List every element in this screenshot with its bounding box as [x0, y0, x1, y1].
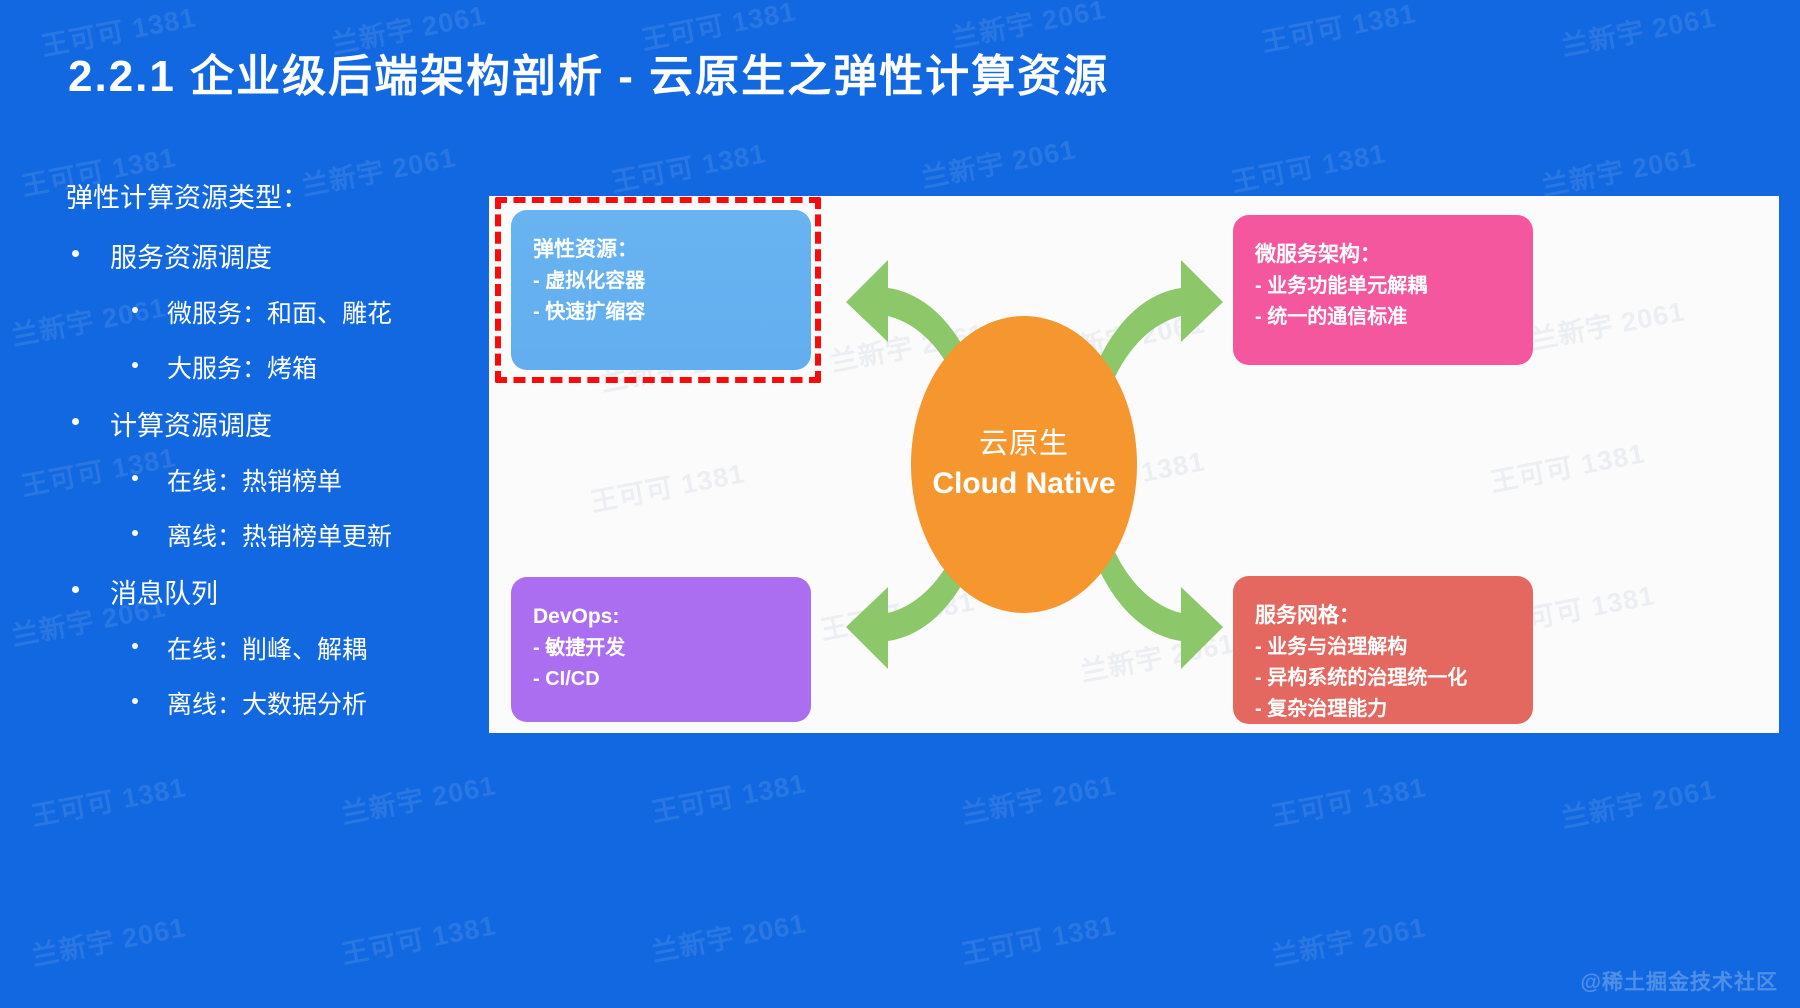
- watermark-text: 兰新宇 2061: [338, 763, 499, 831]
- node-line: - 统一的通信标准: [1255, 302, 1513, 333]
- outline-item-label: 服务资源调度: [110, 236, 272, 275]
- node-line: - CI/CD: [533, 664, 791, 695]
- highlight-box-elastic-resource: [495, 197, 821, 383]
- node-title: DevOps:: [533, 601, 791, 633]
- node-title: 服务网格：: [1255, 600, 1513, 632]
- watermark-text: 王可可 1381: [608, 131, 769, 199]
- node-line: - 业务与治理解构: [1255, 632, 1513, 663]
- bullet-icon: [132, 362, 138, 368]
- outline-heading: 弹性计算资源类型：: [66, 182, 486, 214]
- watermark-text: 兰新宇 2061: [648, 901, 809, 969]
- watermark-text: 王可可 1381: [1487, 431, 1648, 499]
- node-line: - 敏捷开发: [533, 633, 791, 664]
- outline-item-label: 计算资源调度: [110, 404, 272, 443]
- brand-watermark: @稀土掘金技术社区: [1581, 966, 1778, 996]
- outline-item-level1: 消息队列: [66, 572, 486, 611]
- watermark-text: 兰新宇 2061: [1538, 135, 1699, 203]
- outline-item-level2: 在线：削峰、解耦: [66, 630, 486, 666]
- outline-item-label: 在线：热销榜单: [167, 462, 342, 498]
- outline-item-level1: 服务资源调度: [66, 236, 486, 275]
- outline-item-label: 在线：削峰、解耦: [167, 630, 367, 666]
- watermark-text: 王可可 1381: [587, 451, 748, 519]
- cloud-native-diagram: 兰新宇 2061 王可可 1381 兰新宇 2061 兰新宇 2061 兰新宇 …: [489, 196, 1779, 733]
- watermark-text: 王可可 1381: [1258, 0, 1419, 60]
- bullet-icon: [72, 418, 79, 425]
- watermark-text: 王可可 1381: [958, 903, 1119, 971]
- center-label-cn: 云原生: [979, 425, 1069, 464]
- outline-item-level2: 离线：大数据分析: [66, 685, 486, 721]
- center-label-en: Cloud Native: [932, 464, 1115, 505]
- watermark-text: 王可可 1381: [1268, 765, 1429, 833]
- node-line: - 异构系统的治理统一化: [1255, 663, 1513, 694]
- watermark-text: 兰新宇 2061: [1527, 289, 1688, 357]
- watermark-text: 王可可 1381: [1228, 131, 1389, 199]
- bullet-icon: [72, 250, 79, 257]
- outline-item-level2: 在线：热销榜单: [66, 462, 486, 498]
- bullet-icon: [72, 586, 79, 593]
- node-cloud-native-center[interactable]: 云原生 Cloud Native: [911, 316, 1137, 613]
- watermark-text: 兰新宇 2061: [1268, 905, 1429, 973]
- watermark-text: 王可可 1381: [648, 761, 809, 829]
- bullet-icon: [132, 530, 138, 536]
- bullet-icon: [132, 643, 138, 649]
- watermark-text: 兰新宇 2061: [1558, 767, 1719, 835]
- node-devops[interactable]: DevOps: - 敏捷开发 - CI/CD: [511, 577, 811, 722]
- watermark-text: 兰新宇 2061: [918, 127, 1079, 195]
- outline-item-level2: 大服务：烤箱: [66, 349, 486, 385]
- node-microservice-architecture[interactable]: 微服务架构： - 业务功能单元解耦 - 统一的通信标准: [1233, 215, 1533, 365]
- outline-item-label: 微服务：和面、雕花: [167, 294, 392, 330]
- outline-item-label: 消息队列: [110, 572, 218, 611]
- watermark-text: 兰新宇 2061: [958, 763, 1119, 831]
- node-title: 微服务架构：: [1255, 239, 1513, 271]
- node-line: - 业务功能单元解耦: [1255, 271, 1513, 302]
- node-line: - 复杂治理能力: [1255, 694, 1513, 725]
- outline-item-label: 大服务：烤箱: [167, 349, 317, 385]
- node-service-mesh[interactable]: 服务网格： - 业务与治理解构 - 异构系统的治理统一化 - 复杂治理能力: [1233, 576, 1533, 724]
- watermark-text: 兰新宇 2061: [1558, 0, 1719, 64]
- slide-title: 2.2.1 企业级后端架构剖析 - 云原生之弹性计算资源: [68, 40, 1109, 104]
- watermark-text: 王可可 1381: [338, 903, 499, 971]
- outline-item-level2: 微服务：和面、雕花: [66, 294, 486, 330]
- bullet-icon: [132, 307, 138, 313]
- bullet-icon: [132, 698, 138, 704]
- watermark-text: 王可可 1381: [28, 765, 189, 833]
- outline-panel: 弹性计算资源类型： 服务资源调度 微服务：和面、雕花 大服务：烤箱 计算资源调度…: [66, 182, 486, 740]
- outline-item-label: 离线：热销榜单更新: [167, 517, 392, 553]
- bullet-icon: [132, 475, 138, 481]
- watermark-text: 兰新宇 2061: [28, 905, 189, 973]
- outline-item-level1: 计算资源调度: [66, 404, 486, 443]
- outline-item-label: 离线：大数据分析: [167, 685, 367, 721]
- outline-item-level2: 离线：热销榜单更新: [66, 517, 486, 553]
